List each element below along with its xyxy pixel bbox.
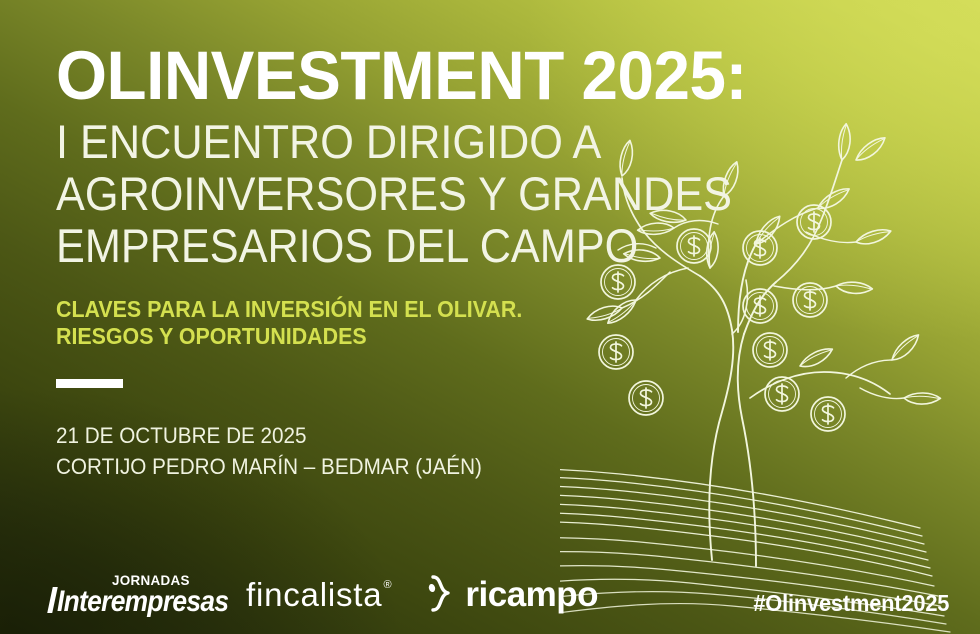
logo-fincalista[interactable]: fincalista® — [246, 578, 392, 611]
logo-interempresas[interactable]: JORNADAS Interempresas — [50, 572, 212, 616]
subtitle-line: EMPRESARIOS DEL CAMPO — [56, 220, 700, 272]
subtitle-line: AGROINVERSORES Y GRANDES — [56, 168, 700, 220]
event-hashtag: #Olinvestment2025 — [753, 590, 949, 616]
claim-line: CLAVES PARA LA INVERSIÓN EN EL OLIVAR. — [56, 296, 522, 323]
event-banner: OLINVESTMENT 2025: I ENCUENTRO DIRIGIDO … — [0, 0, 980, 634]
bracket-leaf-icon — [426, 574, 456, 614]
ricampo-wordmark: ricampo — [465, 577, 598, 612]
event-date: 21 DE OCTUBRE DE 2025 — [56, 420, 482, 451]
fincalista-wordmark: fincalista — [246, 576, 382, 613]
page-title: OLINVESTMENT 2025: — [56, 44, 747, 108]
banner-content: OLINVESTMENT 2025: I ENCUENTRO DIRIGIDO … — [0, 0, 980, 634]
event-venue: CORTIJO PEDRO MARÍN – BEDMAR (JAÉN) — [56, 451, 482, 482]
event-claim: CLAVES PARA LA INVERSIÓN EN EL OLIVAR. R… — [56, 296, 522, 350]
subtitle-line: I ENCUENTRO DIRIGIDO A — [56, 116, 700, 168]
interempresas-wordmark: Interempresas — [57, 585, 228, 619]
logo-ricampo[interactable]: ricampo — [426, 574, 598, 614]
claim-line: RIESGOS Y OPORTUNIDADES — [56, 323, 522, 350]
trademark-icon: ® — [383, 580, 392, 591]
event-details: 21 DE OCTUBRE DE 2025 CORTIJO PEDRO MARÍ… — [56, 420, 482, 482]
divider-rule — [56, 379, 123, 388]
event-subtitle: I ENCUENTRO DIRIGIDO A AGROINVERSORES Y … — [56, 116, 700, 272]
sponsor-logos: JORNADAS Interempresas fincalista® ricam… — [50, 566, 598, 622]
